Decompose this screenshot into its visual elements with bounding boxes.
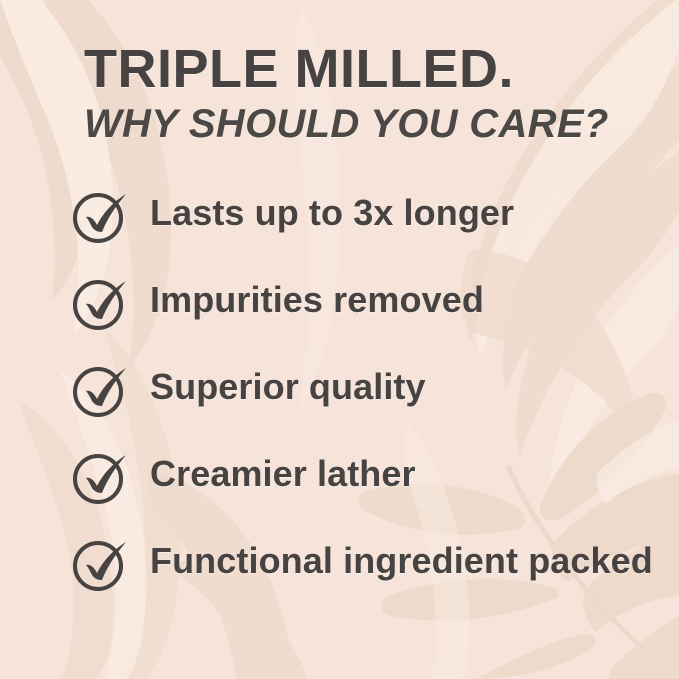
- triple-milled-infographic: TRIPLE MILLED. WHY SHOULD YOU CARE? Last…: [0, 0, 679, 679]
- benefit-label: Lasts up to 3x longer: [150, 183, 660, 235]
- check-circle-icon: [70, 185, 132, 247]
- check-circle-icon: [70, 272, 132, 334]
- page-title: TRIPLE MILLED.: [84, 42, 514, 96]
- check-circle-icon: [70, 446, 132, 508]
- benefit-label: Functional ingredient packed: [150, 531, 660, 583]
- list-item: Impurities removed: [70, 270, 660, 357]
- benefit-list: Lasts up to 3x longer Impurities removed: [70, 183, 660, 618]
- page-subtitle: WHY SHOULD YOU CARE?: [84, 104, 609, 144]
- list-item: Creamier lather: [70, 444, 660, 531]
- benefit-label: Superior quality: [150, 357, 660, 409]
- benefit-label: Creamier lather: [150, 444, 660, 496]
- list-item: Functional ingredient packed: [70, 531, 660, 618]
- check-circle-icon: [70, 533, 132, 595]
- poster-content: TRIPLE MILLED. WHY SHOULD YOU CARE? Last…: [0, 0, 679, 679]
- benefit-label: Impurities removed: [150, 270, 660, 322]
- check-circle-icon: [70, 359, 132, 421]
- list-item: Lasts up to 3x longer: [70, 183, 660, 270]
- list-item: Superior quality: [70, 357, 660, 444]
